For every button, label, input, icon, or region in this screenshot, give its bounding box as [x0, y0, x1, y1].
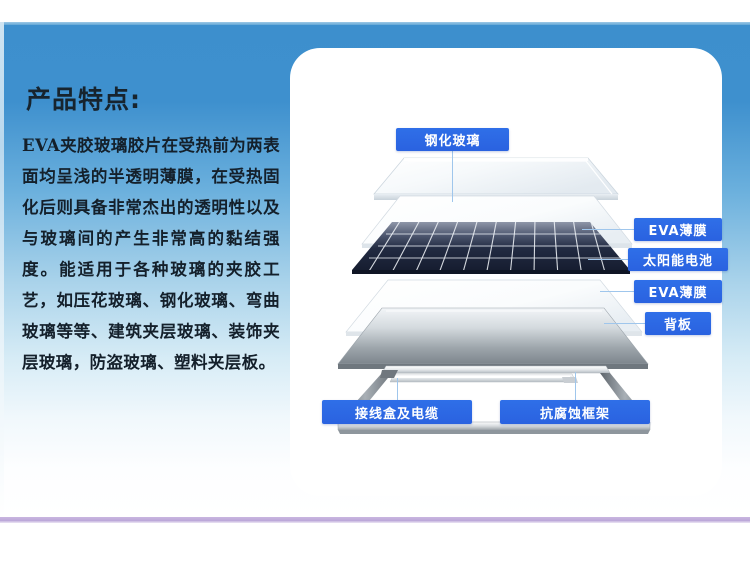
layer-solar-cell [352, 218, 630, 276]
feature-description: EVA夹胶玻璃胶片在受热前为两表面均呈浅的半透明薄膜，在受热固化后则具备非常杰出… [22, 130, 280, 378]
label-solar-cell[interactable]: 太阳能电池 [628, 248, 728, 271]
label-junction-box[interactable]: 接线盒及电缆 [322, 400, 472, 424]
page-root: 产品特点: EVA夹胶玻璃胶片在受热前为两表面均呈浅的半透明薄膜，在受热固化后则… [0, 0, 750, 564]
leader-line-frame [575, 372, 576, 400]
leader-line-solar-cell [588, 259, 628, 260]
band-top-edge [0, 22, 750, 25]
junction-box-and-cable [390, 374, 578, 383]
bottom-divider-shadow [0, 521, 750, 523]
leader-line-back-sheet [604, 323, 645, 324]
label-tempered-glass[interactable]: 钢化玻璃 [396, 128, 509, 151]
label-eva-film-bottom[interactable]: EVA薄膜 [634, 280, 722, 303]
band-left-edge [0, 22, 4, 518]
leader-line-eva-top [582, 229, 634, 230]
feature-panel: 产品特点: EVA夹胶玻璃胶片在受热前为两表面均呈浅的半透明薄膜，在受热固化后则… [22, 86, 280, 378]
leader-line-junction-box [397, 378, 398, 400]
label-frame[interactable]: 抗腐蚀框架 [500, 400, 650, 424]
leader-line-tempered-glass [452, 151, 453, 202]
label-eva-film-top[interactable]: EVA薄膜 [634, 218, 722, 241]
label-back-sheet[interactable]: 背板 [645, 312, 711, 335]
page-title: 产品特点: [26, 86, 280, 114]
layer-back-sheet [338, 308, 648, 369]
layer-tempered-glass [374, 158, 618, 200]
solar-module-exploded-view [290, 48, 722, 496]
leader-line-eva-bottom [600, 291, 634, 292]
